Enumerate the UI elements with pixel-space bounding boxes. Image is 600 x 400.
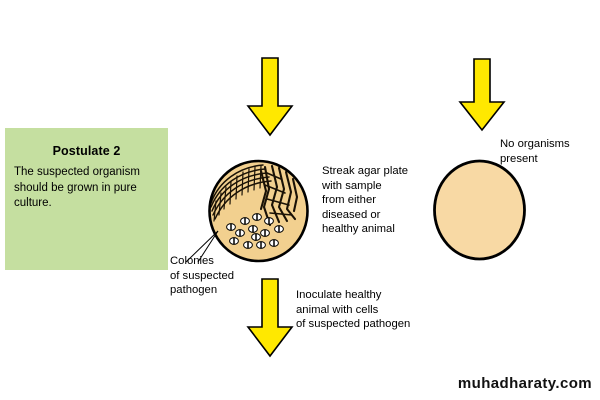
colony [249,226,258,233]
colony [257,242,266,249]
inoculate-label: Inoculate healthy animal with cells of s… [296,288,446,332]
arrow-to-empty-plate-icon [455,57,509,133]
postulate-box: Postulate 2 The suspected organism shoul… [5,128,168,270]
colonies-label: Colonies of suspected pathogen [170,254,280,298]
colony [275,226,284,233]
empty-agar-plate [432,159,527,261]
colony [270,240,279,247]
colony [253,214,262,221]
figure-canvas: Postulate 2 The suspected organism shoul… [0,0,600,400]
streak-plate-label: Streak agar plate with sample from eithe… [322,164,437,237]
watermark: muhadharaty.com [458,375,592,392]
colony [241,218,250,225]
colony [261,230,270,237]
colony [252,234,261,241]
postulate-body-text: The suspected organism should be grown i… [14,165,164,212]
arrow-to-streaked-plate-icon [243,56,297,138]
postulate-title: Postulate 2 [5,144,168,158]
colony [265,218,274,225]
no-organisms-label: No organisms present [500,137,596,166]
